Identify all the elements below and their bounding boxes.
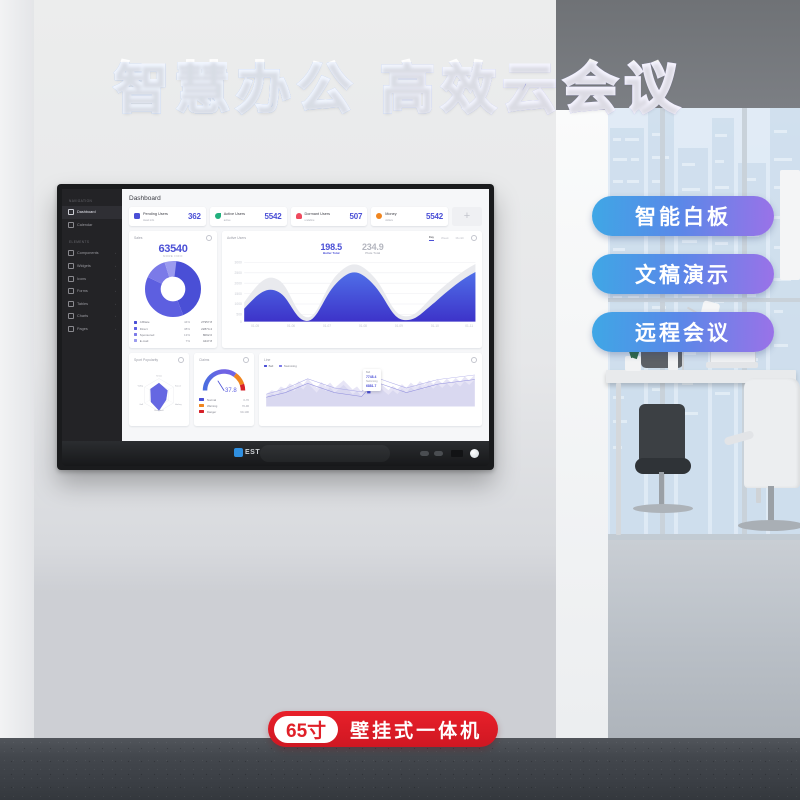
claims-gauge-chart: 37.8 <box>199 363 249 396</box>
mount-type-label: 壁挂式一体机 <box>350 716 482 743</box>
svg-text:1500: 1500 <box>235 292 242 296</box>
legend-amount: 22874.4 <box>190 327 212 331</box>
legend-row: Danger 90-100 <box>199 409 249 415</box>
kpi-sublabel: Await info <box>143 219 154 222</box>
legend-swatch <box>199 398 204 401</box>
sidebar-item-calendar[interactable]: Calendar <box>62 219 122 232</box>
kpi-label: Dormant Users <box>305 212 331 216</box>
widget-icon <box>68 263 74 269</box>
active-users-area-chart: 30002500 20001500 1000500 0 01-0501-06 0… <box>227 256 477 328</box>
star-icon <box>68 276 74 282</box>
sport-popularity-card: Sport Popularity <box>129 353 189 426</box>
range-tab-month[interactable]: Month <box>456 236 464 240</box>
grid-icon <box>68 250 74 256</box>
total-label: Plate Total <box>362 251 384 255</box>
dashboard-sidebar: NAVIGATION Dashboard Calendar ELEMENTS C… <box>62 189 122 441</box>
sidebar-item-label: Forms <box>77 289 88 293</box>
legend-percent: 38% <box>177 327 190 331</box>
legend-label: Affiliate <box>140 320 177 324</box>
svg-text:01-09: 01-09 <box>395 324 403 328</box>
radar-axis-label: Soccer <box>175 385 182 387</box>
admin-dashboard: NAVIGATION Dashboard Calendar ELEMENTS C… <box>62 189 489 441</box>
line-chart-card: Line Ball Swimming <box>259 353 482 426</box>
claims-gauge-card: Claims <box>194 353 254 426</box>
legend-amount: 27957.8 <box>190 320 212 324</box>
svg-text:3000: 3000 <box>235 261 242 265</box>
legend-label: Normal <box>207 398 243 402</box>
sidebar-item-pages[interactable]: Pages › <box>62 323 122 336</box>
tooltip-series-2-value: 6881.7 <box>366 384 378 389</box>
chevron-right-icon: › <box>115 277 116 281</box>
radar-axis-label: Volley <box>138 385 143 387</box>
total-value: 198.5 <box>320 242 342 252</box>
chevron-right-icon: › <box>115 251 116 255</box>
page-icon <box>68 326 74 332</box>
radar-axis-label: Hockey <box>175 404 182 406</box>
legend-percent: 7% <box>177 339 190 343</box>
kpi-sublabel: dollars <box>385 219 393 222</box>
card-title: Line <box>264 358 270 362</box>
chevron-right-icon: › <box>115 314 116 318</box>
totals-row: 198.5 Butler Total 234.9 Plate Total <box>227 242 477 256</box>
control-button-2[interactable] <box>434 451 443 456</box>
legend-label: Direct <box>140 327 177 331</box>
sales-more-info-label: MORE INFO <box>134 255 212 258</box>
sidebar-item-label: Icons <box>77 277 86 281</box>
kpi-card-dormant-users[interactable]: Dormant Users undefine 507 <box>291 207 368 226</box>
sidebar-item-label: Calendar <box>77 223 92 227</box>
legend-amount: 8092.0 <box>190 333 212 337</box>
legend-swatch <box>134 339 137 342</box>
legend-range: 90-100 <box>240 410 249 414</box>
kpi-label: Active Users <box>224 212 245 216</box>
poster-canvas: 智慧办公 高效云会议 智能白板 文稿演示 远程会议 65寸 壁挂式一体机 NAV… <box>0 0 800 800</box>
radar-axis-label: Golf <box>139 404 143 406</box>
range-tab-day[interactable]: Day <box>429 235 434 241</box>
charts-row-primary: Sales 63540 MORE INFO <box>129 231 482 348</box>
legend-swatch <box>264 365 267 368</box>
legend-swatch <box>134 327 137 330</box>
butler-total: 198.5 Butler Total <box>320 242 342 256</box>
dashboard-content: Dashboard Pending Users Await info <box>122 189 489 441</box>
svg-text:2500: 2500 <box>235 271 242 275</box>
leaf-icon <box>215 213 221 219</box>
sidebar-section-header-elements: ELEMENTS <box>62 231 122 247</box>
sidebar-item-forms[interactable]: Forms › <box>62 285 122 298</box>
interactive-flat-panel: NAVIGATION Dashboard Calendar ELEMENTS C… <box>57 184 494 470</box>
legend-swatch <box>279 365 282 368</box>
total-label: Butler Total <box>320 251 342 255</box>
sales-donut-chart <box>145 261 201 317</box>
chart-tooltip: Ball 7748.4 Swimming 6881.7 <box>363 369 381 391</box>
plate-total: 234.9 Plate Total <box>362 242 384 256</box>
screen-size-pill: 65寸 <box>274 716 338 743</box>
svg-text:01-10: 01-10 <box>431 324 439 328</box>
radar-axis-label: Tennis <box>156 375 162 377</box>
legend-label: Sponsored <box>140 333 177 337</box>
sidebar-item-label: Widgets <box>77 264 91 268</box>
kpi-value: 5542 <box>265 212 282 221</box>
office-floor <box>608 540 800 738</box>
sidebar-item-label: Charts <box>77 314 88 318</box>
display-screen: NAVIGATION Dashboard Calendar ELEMENTS C… <box>62 189 489 441</box>
add-kpi-card-button[interactable]: + <box>452 207 482 226</box>
brand-logo: EST <box>234 448 260 457</box>
gear-icon[interactable] <box>471 357 477 363</box>
legend-range: 0-70 <box>243 398 249 402</box>
sidebar-item-widgets[interactable]: Widgets › <box>62 260 122 273</box>
tooltip-series-2-name: Swimming <box>366 380 378 383</box>
chevron-right-icon: › <box>115 327 116 331</box>
logo-mark-icon <box>234 448 243 457</box>
kpi-card-active-users[interactable]: Active Users active 5542 <box>210 207 287 226</box>
page-title: Dashboard <box>129 195 482 202</box>
legend-percent: 44% <box>177 320 190 324</box>
svg-text:1000: 1000 <box>235 302 242 306</box>
sales-total-value: 63540 <box>134 243 212 255</box>
legend-amount: 4447.8 <box>190 339 212 343</box>
tooltip-series-1-name: Ball <box>366 371 370 374</box>
svg-text:01-08: 01-08 <box>359 324 367 328</box>
office-chair-white <box>722 378 800 563</box>
svg-text:2000: 2000 <box>235 282 242 286</box>
sport-popularity-radar-chart: Tennis Soccer Hockey Basketball Golf Vol… <box>134 363 184 421</box>
svg-text:0: 0 <box>240 320 242 324</box>
table-icon <box>68 301 74 307</box>
chevron-right-icon: › <box>115 302 116 306</box>
svg-text:500: 500 <box>236 313 242 317</box>
calendar-icon <box>68 222 74 228</box>
heart-icon <box>296 213 302 219</box>
page-headline: 智慧办公 高效云会议 <box>0 62 800 116</box>
legend-swatch <box>199 404 204 407</box>
sidebar-item-label: Tables <box>77 302 88 306</box>
datapoint-marker <box>367 391 370 393</box>
bookmark-icon <box>134 213 140 219</box>
kpi-label: Money <box>385 212 396 216</box>
radar-series-polygon <box>151 383 168 411</box>
legend-swatch <box>134 321 137 324</box>
kpi-value: 507 <box>350 212 363 221</box>
sidebar-item-label: Pages <box>77 327 88 331</box>
device-bottom-bezel: EST <box>62 441 489 466</box>
speaker-grille <box>260 445 390 462</box>
kpi-value: 362 <box>188 212 201 221</box>
feature-badge-list: 智能白板 文稿演示 远程会议 <box>592 196 774 370</box>
kpi-sublabel: undefine <box>305 219 315 222</box>
svg-text:01-05: 01-05 <box>251 324 259 328</box>
card-title: Sales <box>134 236 142 240</box>
chevron-right-icon: › <box>115 264 116 268</box>
range-tab-week[interactable]: Week <box>441 236 449 240</box>
legend-swatch <box>199 410 204 413</box>
legend-swatch <box>134 333 137 336</box>
power-indicator-led <box>470 449 479 458</box>
range-segmented-control: Day Week Month <box>429 235 464 241</box>
gear-icon[interactable] <box>471 235 477 241</box>
sidebar-item-charts[interactable]: Charts › <box>62 310 122 323</box>
legend-label: Danger <box>207 410 240 414</box>
card-title: Sport Popularity <box>134 358 158 362</box>
gear-icon[interactable] <box>206 235 212 241</box>
svg-text:01-11: 01-11 <box>465 324 473 328</box>
legend-label: Warning <box>207 404 242 408</box>
control-button-1[interactable] <box>420 451 429 456</box>
coin-icon <box>376 213 382 219</box>
sidebar-item-icons[interactable]: Icons › <box>62 272 122 285</box>
home-icon <box>68 209 74 215</box>
sidebar-item-tables[interactable]: Tables › <box>62 298 122 311</box>
sidebar-item-label: Components <box>77 251 99 255</box>
gauge-value: 37.8 <box>225 388 237 394</box>
legend-row: E-mail 7% 4447.8 <box>134 338 212 344</box>
charts-row-secondary: Sport Popularity <box>129 353 482 426</box>
logo-text: EST <box>245 449 260 456</box>
kpi-sublabel: active <box>224 219 231 222</box>
sidebar-item-components[interactable]: Components › <box>62 247 122 260</box>
wall-panel <box>780 170 800 280</box>
kpi-label: Pending Users <box>143 212 168 216</box>
kpi-card-money[interactable]: Money dollars 5542 <box>371 207 448 226</box>
kpi-card-pending-users[interactable]: Pending Users Await info 362 <box>129 207 206 226</box>
product-spec-banner: 65寸 壁挂式一体机 <box>268 711 498 747</box>
sidebar-item-label: Dashboard <box>77 210 96 214</box>
usb-port[interactable] <box>451 450 463 457</box>
form-icon <box>68 288 74 294</box>
desk-leg-left <box>616 383 621 535</box>
card-title: Active Users <box>227 236 246 240</box>
chart-icon <box>68 313 74 319</box>
gauge-needle <box>218 381 224 391</box>
total-value: 234.9 <box>362 242 384 252</box>
chevron-right-icon: › <box>115 289 116 293</box>
card-title: Claims <box>199 358 209 362</box>
legend-label: E-mail <box>140 339 177 343</box>
kpi-card-row: Pending Users Await info 362 Active User… <box>129 207 482 226</box>
sales-donut-card: Sales 63540 MORE INFO <box>129 231 217 348</box>
feature-badge-presentation[interactable]: 文稿演示 <box>592 254 774 294</box>
kpi-value: 5542 <box>426 212 443 221</box>
feature-badge-remote-meeting[interactable]: 远程会议 <box>592 312 774 352</box>
legend-percent: 13% <box>177 333 190 337</box>
active-users-area-card: Active Users Day Week Month <box>222 231 482 348</box>
feature-badge-whiteboard[interactable]: 智能白板 <box>592 196 774 236</box>
sidebar-section-header-navigation: NAVIGATION <box>62 194 122 206</box>
legend-range: 70-90 <box>242 404 249 408</box>
svg-text:01-07: 01-07 <box>323 324 331 328</box>
sidebar-item-dashboard[interactable]: Dashboard <box>62 206 122 219</box>
concrete-floor <box>0 738 800 800</box>
svg-text:01-06: 01-06 <box>287 324 295 328</box>
